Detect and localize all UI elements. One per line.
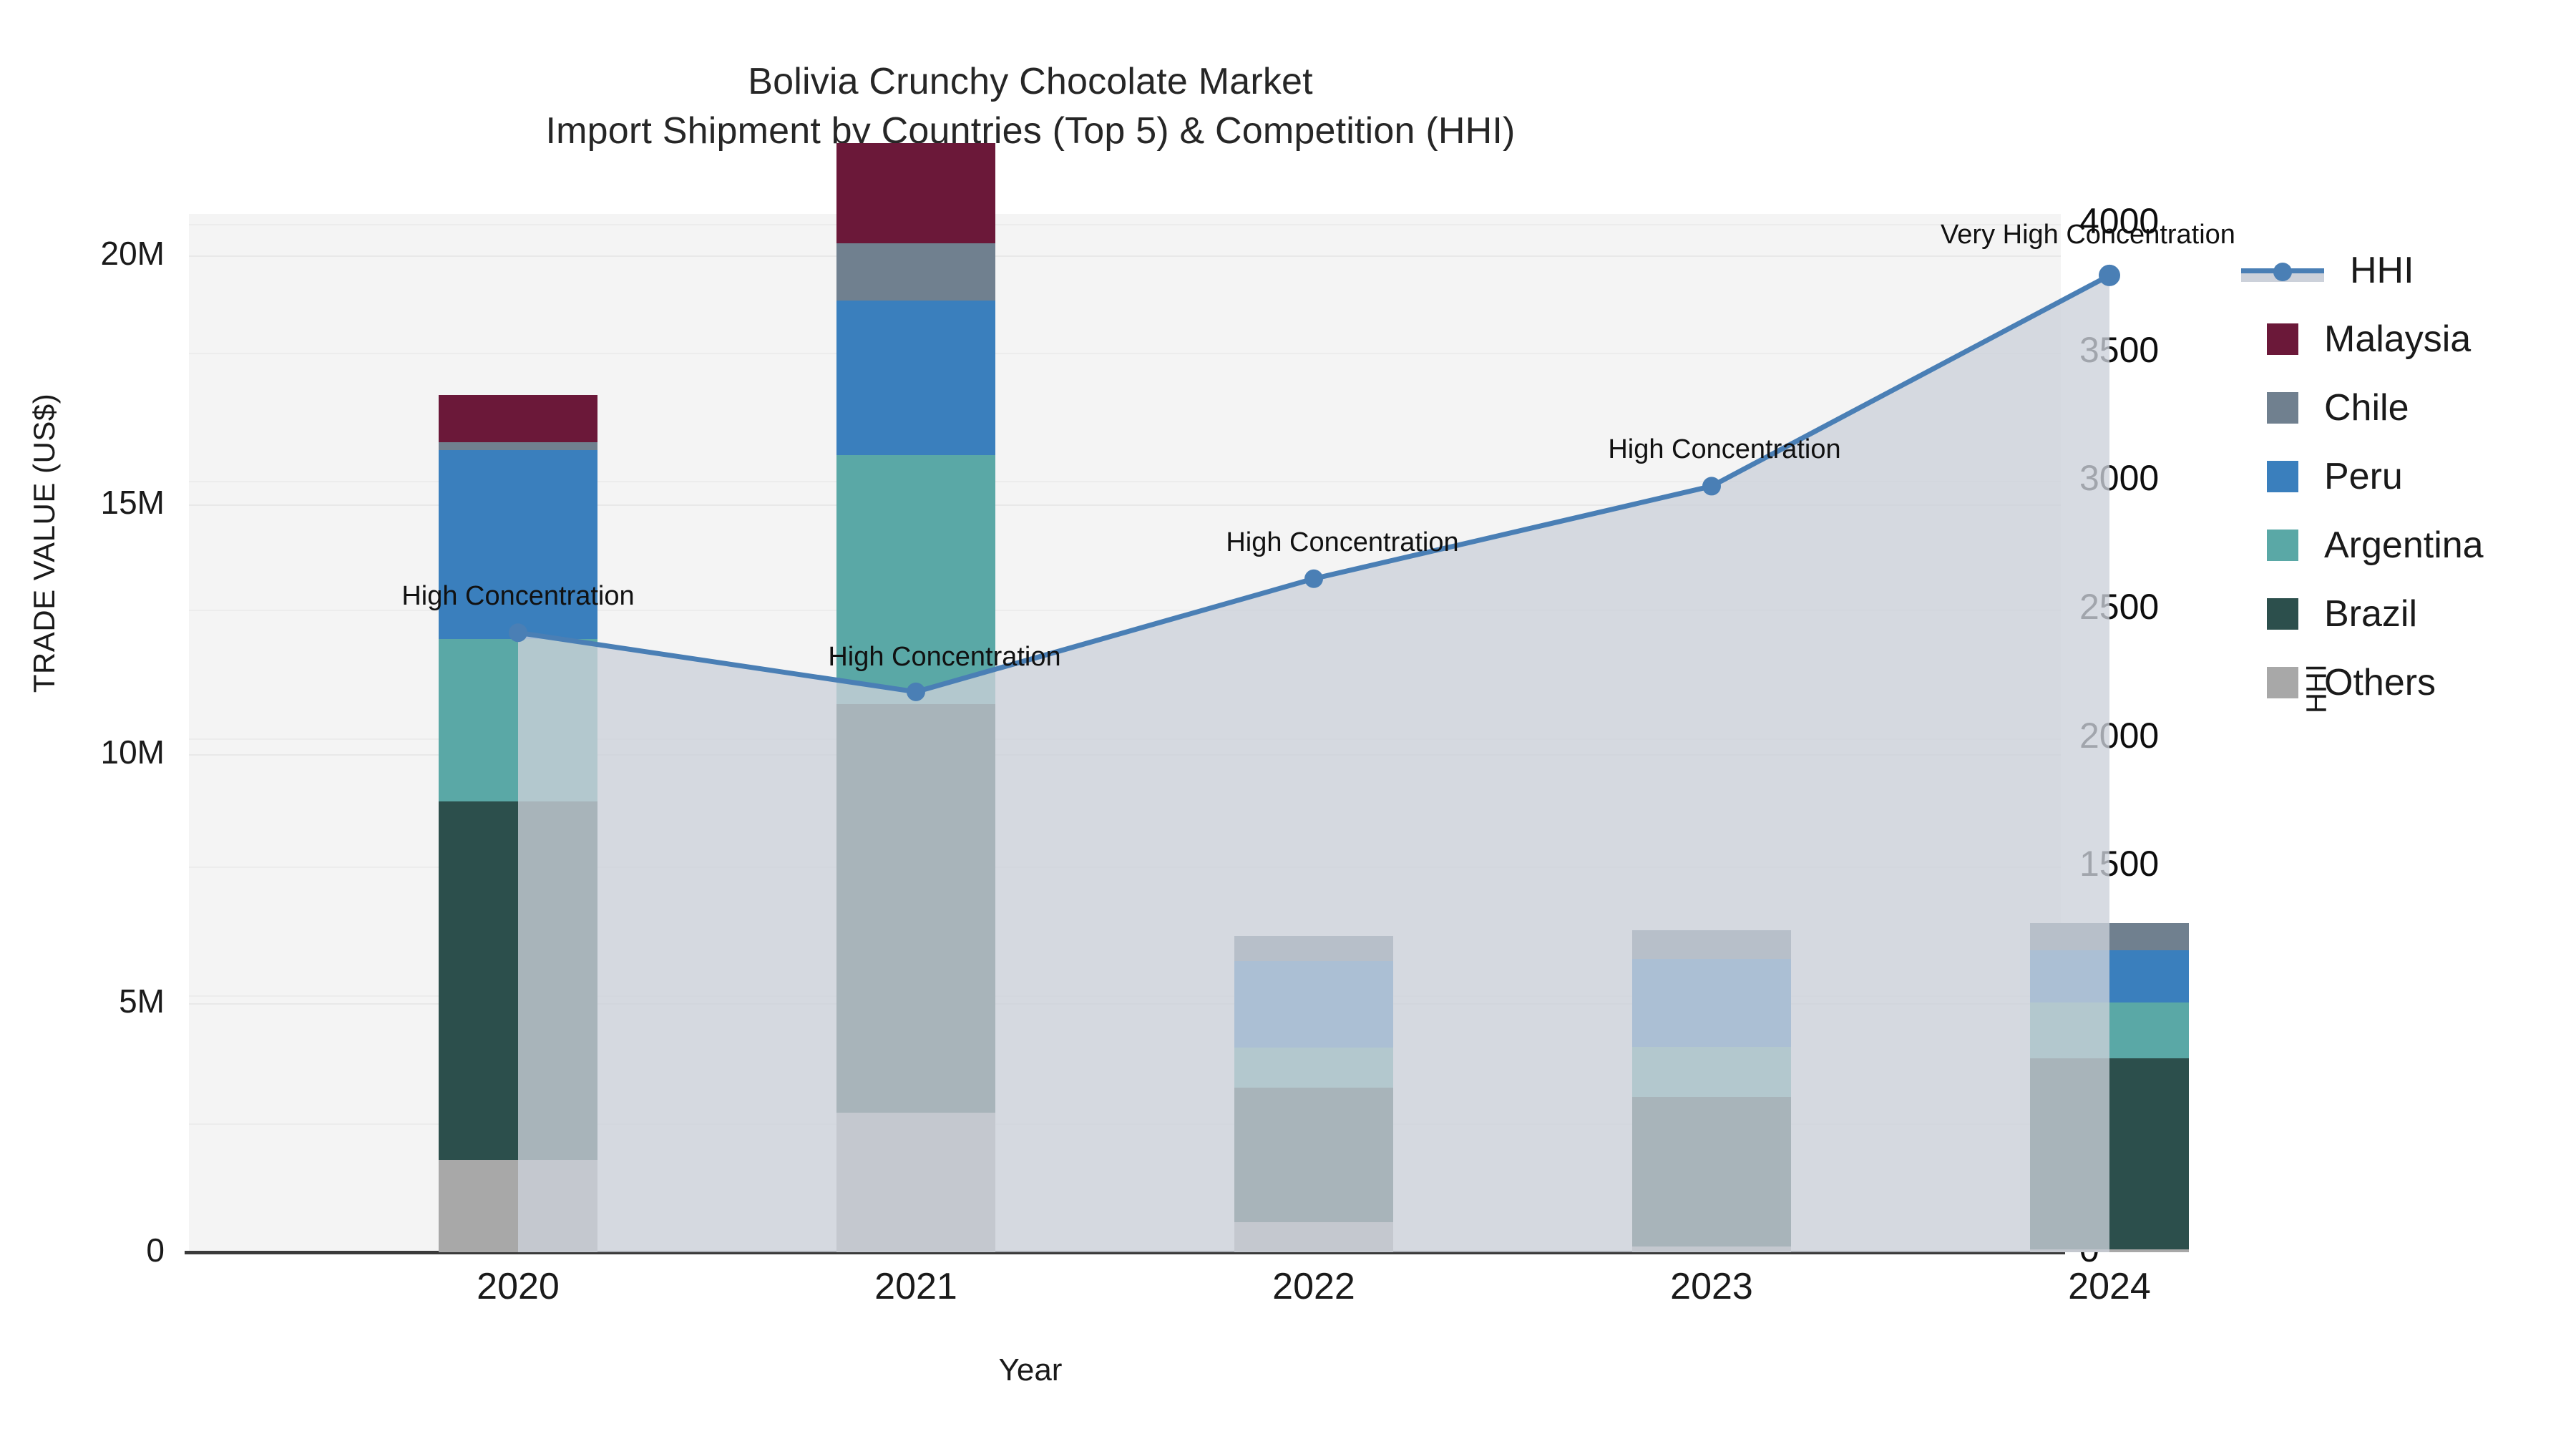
hhi-data-point-2020[interactable] bbox=[509, 623, 527, 642]
hhi-data-point-2021[interactable] bbox=[907, 683, 925, 701]
x-axis-tick-2020: 2020 bbox=[411, 1265, 625, 1308]
hhi-data-point-2023[interactable] bbox=[1702, 477, 1721, 495]
legend-item-others[interactable]: Others bbox=[2267, 648, 2567, 717]
hhi-area-fill bbox=[518, 275, 2109, 1252]
annotation-2024: Very High Concentration bbox=[1941, 220, 2235, 250]
legend-label: Others bbox=[2324, 664, 2436, 701]
annotation-2020: High Concentration bbox=[401, 581, 634, 612]
y-axis-left-tick: 20M bbox=[0, 234, 165, 273]
x-axis-tick-2023: 2023 bbox=[1604, 1265, 1819, 1308]
legend-item-peru[interactable]: Peru bbox=[2267, 442, 2567, 511]
legend-item-malaysia[interactable]: Malaysia bbox=[2267, 305, 2567, 374]
annotation-2021: High Concentration bbox=[828, 642, 1060, 673]
hhi-line-swatch-icon bbox=[2241, 255, 2324, 286]
legend-swatch-others-icon bbox=[2267, 667, 2298, 698]
legend-swatch-peru-icon bbox=[2267, 461, 2298, 492]
x-axis-tick-2021: 2021 bbox=[809, 1265, 1023, 1308]
y-axis-left-tick: 10M bbox=[0, 733, 165, 771]
legend-item-hhi[interactable]: HHI bbox=[2267, 236, 2567, 305]
x-axis-label: Year bbox=[0, 1352, 2061, 1388]
legend-item-chile[interactable]: Chile bbox=[2267, 374, 2567, 442]
chart-legend: HHIMalaysiaChilePeruArgentinaBrazilOther… bbox=[2267, 236, 2567, 717]
legend-label: HHI bbox=[2350, 252, 2414, 289]
y-axis-left-tick: 5M bbox=[0, 982, 165, 1020]
chart-figure: Bolivia Crunchy Chocolate Market Import … bbox=[0, 0, 2576, 1449]
hhi-line-chart bbox=[189, 214, 2061, 1252]
hhi-data-point-2022[interactable] bbox=[1304, 570, 1323, 588]
page-title: Bolivia Crunchy Chocolate Market Import … bbox=[0, 57, 2061, 155]
legend-swatch-brazil-icon bbox=[2267, 598, 2298, 630]
y-axis-left-tick: 0 bbox=[0, 1231, 165, 1269]
annotation-2022: High Concentration bbox=[1226, 527, 1458, 558]
x-axis-tick-2022: 2022 bbox=[1206, 1265, 1421, 1308]
legend-swatch-chile-icon bbox=[2267, 392, 2298, 424]
title-line-1: Bolivia Crunchy Chocolate Market bbox=[0, 57, 2061, 107]
legend-swatch-argentina-icon bbox=[2267, 530, 2298, 561]
legend-label: Chile bbox=[2324, 389, 2409, 426]
legend-swatch-malaysia-icon bbox=[2267, 323, 2298, 355]
legend-label: Peru bbox=[2324, 458, 2403, 495]
legend-item-brazil[interactable]: Brazil bbox=[2267, 580, 2567, 648]
legend-label: Brazil bbox=[2324, 595, 2417, 633]
y-axis-left-label: TRADE VALUE (US$) bbox=[27, 328, 62, 758]
hhi-data-point-2024[interactable] bbox=[2099, 265, 2120, 286]
title-line-2: Import Shipment by Countries (Top 5) & C… bbox=[0, 107, 2061, 156]
annotation-2023: High Concentration bbox=[1608, 434, 1840, 465]
y-axis-left-tick: 15M bbox=[0, 483, 165, 522]
legend-label: Malaysia bbox=[2324, 321, 2471, 358]
legend-label: Argentina bbox=[2324, 527, 2484, 564]
legend-item-argentina[interactable]: Argentina bbox=[2267, 511, 2567, 580]
x-axis-tick-2024: 2024 bbox=[2002, 1265, 2217, 1308]
